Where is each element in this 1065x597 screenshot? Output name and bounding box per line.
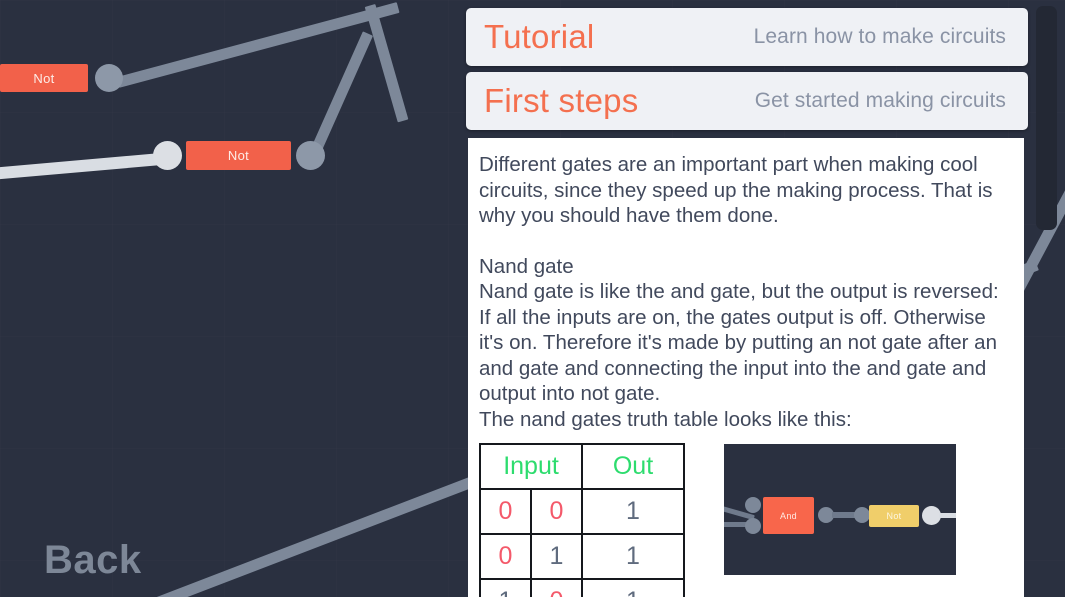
gate-label: Not — [33, 71, 54, 86]
background-gate-not-2[interactable]: Not — [186, 141, 291, 170]
intro-paragraph: Different gates are an important part wh… — [479, 152, 1008, 229]
background-gate-not-1[interactable]: Not — [0, 64, 88, 92]
cell-b: 1 — [531, 534, 582, 579]
card-first-steps-subtitle: Get started making circuits — [755, 89, 1006, 113]
preview-input-node-1 — [745, 497, 761, 513]
gate-label: Not — [228, 148, 249, 163]
cell-out: 1 — [582, 489, 684, 534]
tutorial-body-panel[interactable]: Different gates are an important part wh… — [468, 138, 1024, 597]
table-caption: The nand gates truth table looks like th… — [479, 407, 1008, 433]
preview-not-gate: Not — [869, 505, 919, 527]
section-heading: Nand gate — [479, 254, 1008, 280]
cell-out: 1 — [582, 534, 684, 579]
gate-label: And — [780, 511, 797, 521]
header-out: Out — [582, 444, 684, 489]
truth-table: Input Out 0 0 1 0 1 1 1 0 — [479, 443, 685, 597]
header-input: Input — [480, 444, 582, 489]
scrollbar-thumb[interactable] — [1036, 6, 1057, 230]
gate-label: Not — [887, 511, 902, 521]
card-tutorial[interactable]: Tutorial Learn how to make circuits — [466, 8, 1028, 66]
tutorial-screen: Not Not Back Tutorial Learn how to make … — [0, 0, 1065, 597]
cell-a: 0 — [480, 489, 531, 534]
table-row: 0 0 1 — [480, 489, 684, 534]
tutorial-dialog: Tutorial Learn how to make circuits Firs… — [466, 0, 1028, 597]
card-first-steps[interactable]: First steps Get started making circuits — [466, 72, 1028, 130]
nand-circuit-preview: And Not — [724, 444, 956, 575]
connector-node-1[interactable] — [95, 64, 123, 92]
connector-node-3[interactable] — [296, 141, 325, 170]
card-first-steps-title: First steps — [484, 82, 638, 120]
cell-a: 0 — [480, 534, 531, 579]
preview-output-wire — [939, 513, 956, 518]
background-wire-2 — [365, 4, 409, 122]
cell-a: 1 — [480, 579, 531, 597]
card-tutorial-subtitle: Learn how to make circuits — [754, 25, 1006, 49]
preview-mid-node-2 — [854, 507, 870, 523]
card-tutorial-title: Tutorial — [484, 18, 594, 56]
cell-b: 0 — [531, 489, 582, 534]
description-paragraph: Nand gate is like the and gate, but the … — [479, 279, 1008, 407]
cell-b: 0 — [531, 579, 582, 597]
table-row: 1 0 1 — [480, 579, 684, 597]
back-button[interactable]: Back — [44, 538, 142, 583]
paragraph-spacer — [479, 229, 1008, 254]
preview-and-gate: And — [763, 497, 814, 534]
connector-node-2[interactable] — [153, 141, 182, 170]
preview-input-node-2 — [745, 518, 761, 534]
table-row: 0 1 1 — [480, 534, 684, 579]
truth-table-and-preview-row: Input Out 0 0 1 0 1 1 1 0 — [479, 443, 1008, 597]
table-header-row: Input Out — [480, 444, 684, 489]
cell-out: 1 — [582, 579, 684, 597]
